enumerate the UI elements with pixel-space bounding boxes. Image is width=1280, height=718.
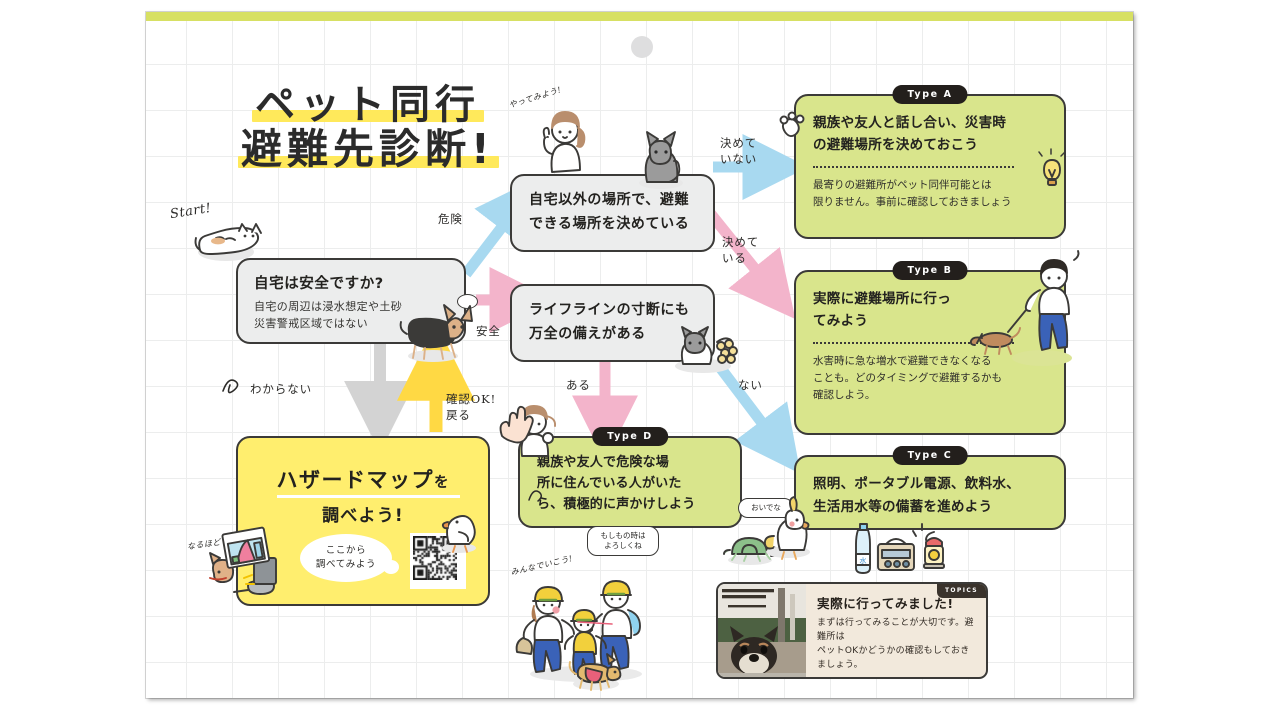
speech-bubble-oideyo: おいでな	[738, 498, 794, 518]
divider	[813, 342, 1014, 344]
screenshot-root: ペット同行 避難先診断!	[0, 0, 1280, 718]
type-a-body: 最寄りの避難所がペット同伴可能とは 限りません。事前に確認しておきましょう	[813, 177, 1047, 212]
arrow-label-not-have: ない	[738, 378, 763, 394]
arrow-label-safe: 安全	[476, 324, 501, 340]
type-a-headline: 親族や友人と話し合い、災害時 の避難場所を決めておこう	[813, 112, 1047, 157]
topics-badge: TOPICS	[937, 584, 986, 598]
poster-sheet: ペット同行 避難先診断!	[146, 12, 1133, 698]
arrow-label-confirm-back: 確認OK! 戻る	[446, 392, 496, 423]
squiggle-doodle-icon	[220, 375, 246, 399]
q2-title: 自宅以外の場所で、避難 できる場所を決めている	[529, 189, 689, 237]
hazard-map-card[interactable]: ハザードマップを 調べよう! ここから 調べてみよう	[236, 436, 490, 606]
result-box-type-d[interactable]: Type D 親族や友人で危険な場 所に住んでいる人がいた ら、積極的に声かけし…	[518, 436, 742, 528]
type-a-badge: Type A	[892, 85, 967, 104]
circle-decoration-icon	[631, 36, 653, 58]
topics-text: まずは行ってみることが大切です。避難所は ペットOKかどうかの確認もしておきまし…	[817, 617, 976, 673]
hazard-map-subheading: 調べよう!	[238, 501, 488, 526]
hazard-map-heading: ハザードマップを 調べよう!	[238, 464, 488, 526]
arrow-label-dont-know: わからない	[250, 382, 312, 398]
topics-card[interactable]: TOPICS 実際に行ってみました! まずは行ってみることが大切です。避難所は …	[716, 582, 988, 679]
type-d-headline: 親族や友人で危険な場 所に住んでいる人がいた ら、積極的に声かけしよう	[537, 453, 723, 515]
question-box-lifeline-preparedness[interactable]: ライフラインの寸断にも 万全の備えがある	[510, 284, 715, 362]
result-box-type-a[interactable]: Type A 親族や友人と話し合い、災害時 の避難場所を決めておこう 最寄りの避…	[794, 94, 1066, 239]
speech-bubble-moshimo: もしもの時は よろしくね	[587, 526, 659, 556]
result-box-type-c[interactable]: Type C 照明、ポータブル電源、飲料水、 生活用水等の備蓄を進めよう	[794, 455, 1066, 530]
type-b-body: 水害時に急な増水で避難できなくなる ことも。どのタイミングで避難するかも 確認し…	[813, 353, 1047, 405]
divider	[813, 166, 1014, 168]
hazard-map-balloon: ここから 調べてみよう	[300, 534, 392, 582]
speech-bubble-small-dog	[457, 294, 478, 309]
arrow-label-not-decided: 決めて いない	[720, 136, 757, 167]
squiggle-doodle-icon-2	[526, 486, 550, 508]
q1-title: 自宅は安全ですか?	[254, 272, 448, 293]
q3-title: ライフラインの寸断にも 万全の備えがある	[529, 299, 690, 347]
question-box-home-safety[interactable]: 自宅は安全ですか? 自宅の周辺は浸水想定や土砂 災害警戒区域ではない	[236, 258, 466, 344]
type-b-headline: 実際に避難場所に行っ てみよう	[813, 288, 1047, 333]
topics-photo	[718, 584, 806, 677]
topics-credit: 埼玉県越谷市 麦ちゃん	[817, 678, 976, 679]
arrow-label-danger: 危険	[438, 212, 463, 228]
question-box-evacuation-place[interactable]: 自宅以外の場所で、避難 できる場所を決めている	[510, 174, 715, 252]
type-c-badge: Type C	[893, 446, 968, 465]
q1-subtitle: 自宅の周辺は浸水想定や土砂 災害警戒区域ではない	[254, 298, 448, 332]
top-accent-bar	[146, 12, 1133, 21]
result-box-type-b[interactable]: Type B 実際に避難場所に行っ てみよう 水害時に急な増水で避難できなくなる…	[794, 270, 1066, 435]
type-d-badge: Type D	[592, 427, 668, 446]
topics-body: TOPICS 実際に行ってみました! まずは行ってみることが大切です。避難所は …	[806, 584, 986, 677]
hazard-map-particle: を	[434, 475, 450, 491]
type-b-badge: Type B	[893, 261, 968, 280]
qr-code[interactable]	[410, 533, 466, 589]
title-line-2: 避難先診断!	[241, 128, 495, 171]
hazard-map-keyword: ハザードマップ	[277, 464, 435, 494]
title-line-1: ペット同行	[255, 84, 480, 126]
arrow-label-decided: 決めて いる	[722, 235, 759, 266]
arrow-label-have: ある	[566, 378, 591, 394]
type-c-headline: 照明、ポータブル電源、飲料水、 生活用水等の備蓄を進めよう	[813, 473, 1047, 519]
